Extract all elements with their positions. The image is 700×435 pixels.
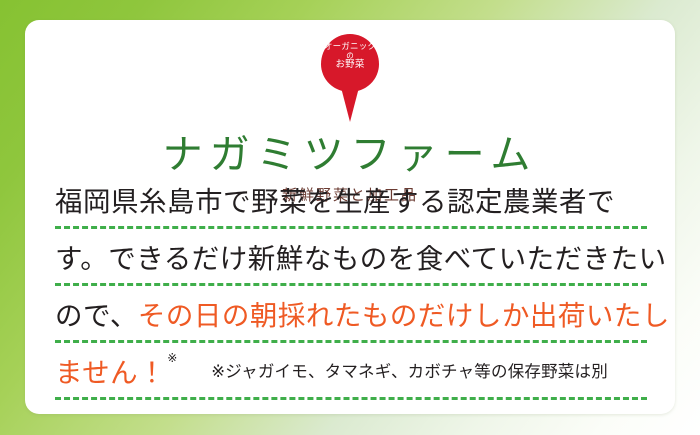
- footnote-text: ※ジャガイモ、タマネギ、カボチャ等の保存野菜は別: [211, 358, 608, 382]
- copy-line-4: ません！ ※ ※ジャガイモ、タマネギ、カボチャ等の保存野菜は別: [55, 343, 647, 400]
- footnote-marker: ※: [167, 351, 177, 365]
- body-copy: 福岡県糸島市で野菜を生産する認定農業者で す。できるだけ新鮮なものを食べていただ…: [55, 172, 647, 400]
- copy-line-1-text: 福岡県糸島市で野菜を生産する認定農業者で: [55, 179, 615, 219]
- copy-line-1: 福岡県糸島市で野菜を生産する認定農業者で: [55, 172, 647, 229]
- copy-line-3-accent: その日の朝採れたものだけしか出荷いたし: [138, 293, 670, 333]
- pin-line-3: お野菜: [315, 60, 385, 71]
- copy-line-2: す。できるだけ新鮮なものを食べていただきたい: [55, 229, 647, 286]
- copy-line-3-lead: ので、: [55, 293, 138, 333]
- copy-line-4-accent: ません！: [55, 350, 166, 390]
- organic-pin: オーガニック の お野菜: [25, 34, 675, 130]
- content-card: オーガニック の お野菜 ナガミツファーム 新鮮野菜と加工品 福岡県糸島市で野菜…: [25, 20, 675, 414]
- pin-text: オーガニック の お野菜: [315, 42, 385, 71]
- gradient-frame: オーガニック の お野菜 ナガミツファーム 新鮮野菜と加工品 福岡県糸島市で野菜…: [0, 0, 700, 435]
- copy-line-3: ので、 その日の朝採れたものだけしか出荷いたし: [55, 286, 647, 343]
- copy-line-2-text: す。できるだけ新鮮なものを食べていただきたい: [55, 236, 667, 276]
